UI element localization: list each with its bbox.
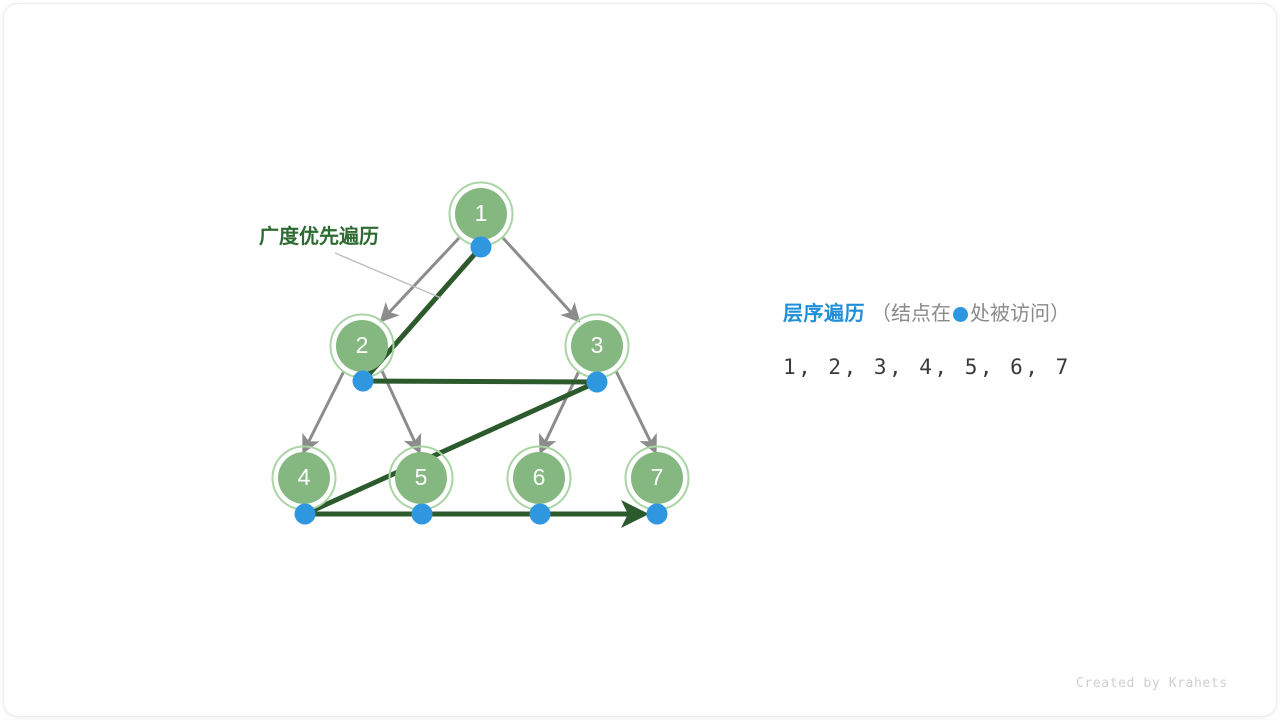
visit-dot-node-4[interactable] [295,504,316,525]
visit-dot-node-7[interactable] [647,504,668,525]
traversal-note-suffix: 处被访问） [970,303,1070,325]
traversal-title: 层序遍历 [783,303,865,325]
blue-circle-icon [953,307,968,322]
visit-dot-node-2[interactable] [353,371,374,392]
traversal-sequence: 1, 2, 3, 4, 5, 6, 7 [783,355,1203,379]
node-value: 1 [475,200,488,226]
visit-dot-node-6[interactable] [530,504,551,525]
tree-edge-1-3 [503,238,578,320]
tree-edge-1-2 [382,238,459,320]
node-value: 6 [533,464,546,490]
tree-node-1[interactable]: 1 [450,183,513,246]
tree-node-6[interactable]: 6 [508,447,571,510]
tree-node-4[interactable]: 4 [273,447,336,510]
node-value: 7 [651,464,664,490]
node-value: 3 [591,332,604,358]
traversal-note-prefix: （结点在 [871,303,951,325]
tree-node-2[interactable]: 2 [331,315,394,378]
bfs-label: 广度优先遍历 [259,220,379,249]
traversal-note: （结点在处被访问） [871,303,1070,325]
tree-node-5[interactable]: 5 [390,447,453,510]
traversal-heading-row: 层序遍历（结点在处被访问） [783,300,1203,328]
tree-edge-2-4 [304,371,344,451]
visit-dot-node-5[interactable] [412,504,433,525]
node-value: 2 [356,332,369,358]
visit-dot-node-1[interactable] [471,237,492,258]
node-value: 5 [415,464,428,490]
info-panel: 层序遍历（结点在处被访问） 1, 2, 3, 4, 5, 6, 7 [783,300,1203,379]
node-value: 4 [298,464,311,490]
tree-node-7[interactable]: 7 [626,447,689,510]
visit-dot-node-3[interactable] [587,372,608,393]
diagram-canvas: 1 2 3 4 5 [0,0,1280,720]
tree-edge-3-7 [616,371,655,451]
tree-node-3[interactable]: 3 [566,315,629,378]
traversal-segment-2-3 [363,381,597,382]
credit-text: Created by Krahets [1076,676,1228,691]
